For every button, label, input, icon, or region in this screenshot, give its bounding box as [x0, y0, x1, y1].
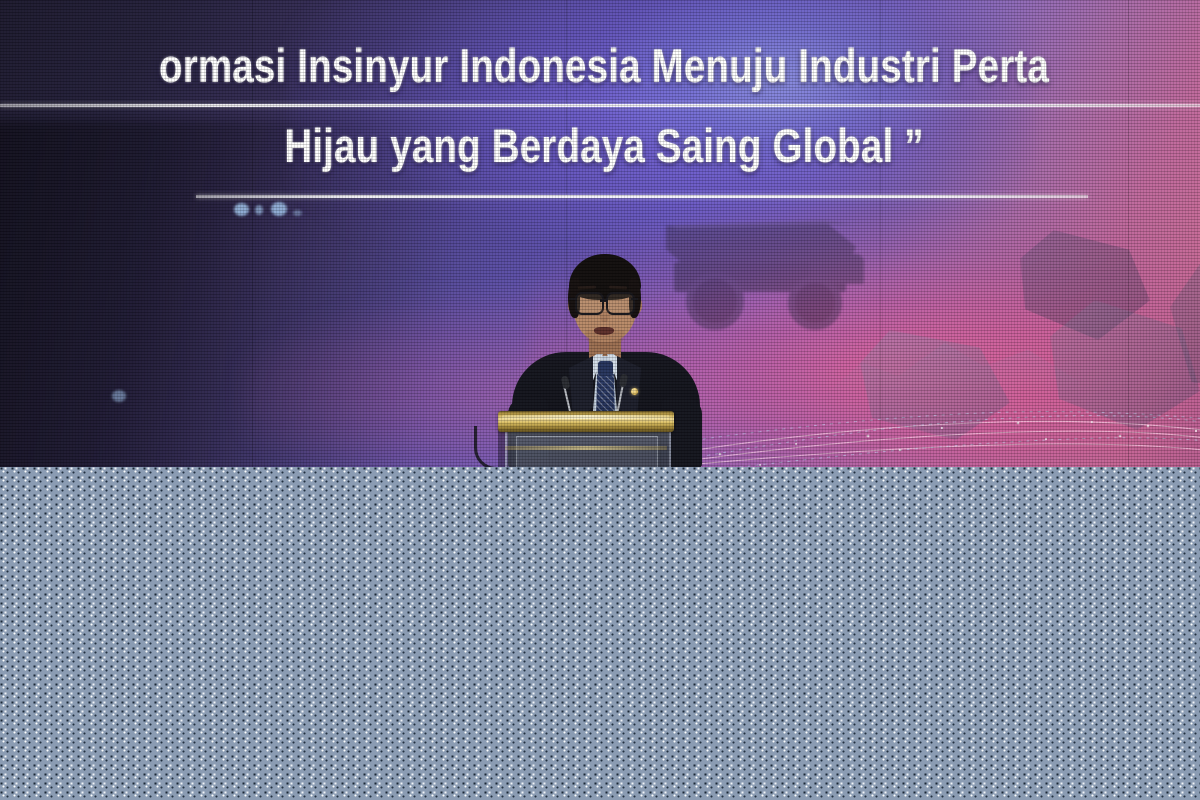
speaker-figure: [0, 0, 1200, 467]
podium-gold-strip: [505, 446, 667, 450]
podium-glass-panel: [516, 436, 658, 467]
mouth: [594, 327, 614, 335]
nose: [600, 306, 609, 322]
necktie-knot: [598, 361, 613, 376]
eyeglasses-temple-left: [569, 298, 576, 300]
microphone-cable: [474, 426, 511, 467]
event-photograph: ormasi Insinyur Indonesia Menuju Industr…: [0, 0, 1200, 467]
eyeglasses-temple-right: [631, 298, 638, 300]
truncated-image-placeholder: [0, 467, 1200, 800]
lapel-pin: [631, 388, 638, 395]
eyeglasses-lens-right: [606, 292, 635, 315]
podium-brass-highlight: [502, 415, 670, 419]
screenshot-root: ormasi Insinyur Indonesia Menuju Industr…: [0, 0, 1200, 800]
eyeglasses-bridge: [600, 299, 606, 302]
